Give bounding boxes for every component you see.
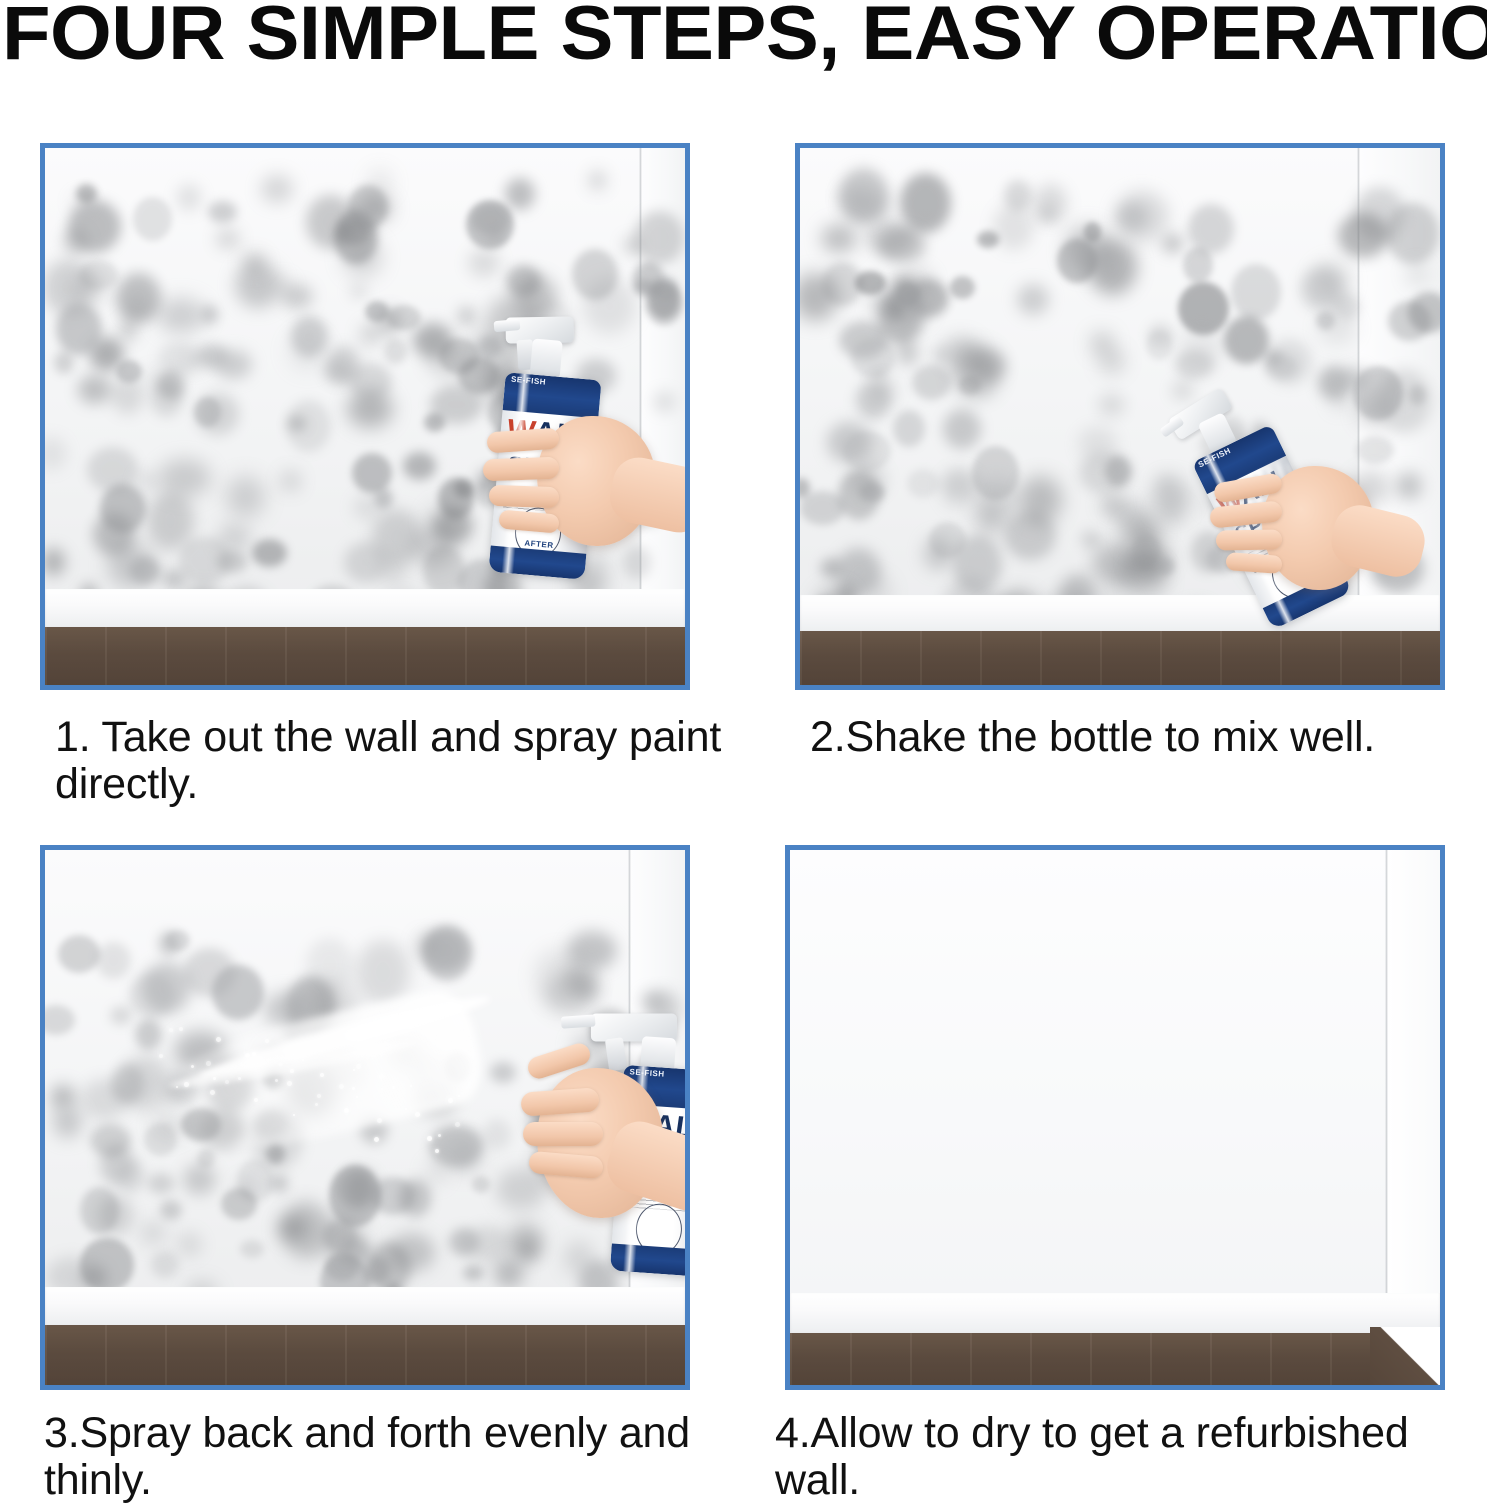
mold-stain: [403, 452, 436, 480]
mist-droplet: [179, 1027, 183, 1031]
mold-stain: [942, 470, 975, 508]
mold-stain: [1078, 427, 1117, 461]
mold-stain: [463, 1265, 484, 1281]
finger-ring: [523, 1122, 603, 1146]
finger-pinky: [1225, 552, 1282, 574]
mold-stain: [147, 492, 194, 550]
mold-stain: [483, 1119, 511, 1150]
mist-droplet: [279, 1063, 282, 1066]
step-2-scene: SE-FISH WALL SPRAY: [800, 148, 1440, 685]
mold-stain: [1377, 369, 1431, 433]
mold-stain: [342, 1237, 371, 1266]
step-1-caption: 1. Take out the wall and spray paint dir…: [55, 714, 735, 808]
mold-stain: [424, 413, 445, 432]
mold-stain: [1093, 334, 1111, 353]
mold-stain: [1039, 206, 1056, 222]
step-3-caption: 3.Spray back and forth evenly and thinly…: [44, 1410, 724, 1504]
mold-stain: [449, 1228, 479, 1256]
wood-floor: [45, 1325, 685, 1385]
finger-ring: [1216, 529, 1282, 550]
mold-stain: [1105, 456, 1131, 486]
mist-droplet: [293, 1114, 295, 1116]
baseboard: [45, 589, 685, 629]
mold-stain: [505, 178, 535, 210]
page-title: FOUR SIMPLE STEPS, EASY OPERATION: [2, 0, 1487, 74]
mold-stain: [142, 962, 191, 1014]
mold-stain: [1179, 326, 1224, 370]
mold-stain: [1332, 293, 1360, 320]
mold-stain: [642, 992, 664, 1009]
mold-stain: [589, 171, 606, 190]
mist-droplet: [290, 1069, 294, 1073]
mold-stain: [151, 1251, 179, 1278]
mold-stain: [100, 484, 146, 533]
finger-middle: [483, 457, 560, 482]
mold-stain: [240, 1240, 264, 1258]
mold-stain: [950, 276, 975, 299]
floor-corner-wedge: [1370, 1327, 1440, 1385]
mold-stain: [872, 378, 897, 402]
mold-stain: [197, 1149, 215, 1168]
mold-stain: [1152, 478, 1190, 515]
mold-stain: [158, 459, 211, 497]
mold-stain: [633, 262, 664, 295]
mold-stain: [912, 365, 951, 400]
mold-stain: [827, 422, 872, 463]
mold-stain: [1330, 394, 1351, 410]
mold-stain: [96, 942, 131, 979]
infographic-page: FOUR SIMPLE STEPS, EASY OPERATION SE-FIS…: [0, 0, 1487, 1500]
mold-stain: [348, 185, 388, 229]
mist-droplet: [216, 1037, 221, 1042]
mold-stain: [933, 347, 949, 364]
mold-stain: [288, 332, 326, 371]
mist-droplet: [238, 1077, 241, 1080]
bottle-nozzle: [561, 1014, 596, 1028]
mold-stain: [623, 546, 651, 579]
mold-stain: [458, 307, 475, 325]
mold-stain: [53, 1106, 82, 1138]
mold-stain: [968, 350, 1006, 381]
mold-stain: [158, 342, 201, 375]
mold-stain: [1081, 531, 1101, 548]
wood-floor: [790, 1333, 1440, 1385]
mold-stain: [58, 935, 100, 973]
mist-droplet: [356, 1096, 358, 1098]
mold-stain: [1338, 213, 1389, 258]
mold-stain: [1017, 284, 1049, 315]
mold-stain: [157, 298, 205, 333]
mold-stain: [216, 229, 240, 249]
bottle-nozzle: [494, 319, 521, 332]
mist-droplet: [415, 1112, 420, 1117]
mold-stain: [252, 539, 287, 567]
mold-stain: [924, 537, 953, 570]
mold-stain: [1183, 247, 1213, 283]
mold-stain: [282, 472, 299, 490]
mold-stain: [158, 931, 180, 956]
mold-stain: [1356, 436, 1394, 464]
mold-stain: [507, 1222, 544, 1258]
mist-droplet: [159, 1054, 163, 1058]
mold-stain: [1224, 316, 1269, 364]
mold-stain: [897, 340, 918, 365]
mold-stain: [282, 1201, 330, 1259]
mold-stain: [399, 1179, 431, 1217]
baseboard: [800, 595, 1440, 633]
mold-stain: [1100, 396, 1123, 414]
mold-stain: [183, 1164, 216, 1195]
mold-stain: [306, 938, 353, 992]
mold-stain: [1388, 301, 1431, 341]
finger-ring: [489, 485, 560, 508]
mist-droplet: [191, 1065, 194, 1068]
mold-stain: [177, 1232, 202, 1257]
mold-stain: [110, 1006, 132, 1025]
mold-stain: [98, 1195, 133, 1235]
step-1-scene: SE-FISH WALL SPRAY AFTER: [45, 148, 685, 685]
mold-stain: [953, 535, 1002, 594]
mold-stain: [261, 175, 293, 203]
step-1-image-panel: SE-FISH WALL SPRAY AFTER: [40, 143, 690, 690]
mist-droplet: [210, 1090, 215, 1095]
mist-droplet: [287, 1081, 292, 1086]
mist-droplet: [458, 1095, 460, 1097]
mold-stain: [120, 320, 137, 340]
step-2-image-panel: SE-FISH WALL SPRAY: [795, 143, 1445, 690]
mold-stain: [1004, 180, 1032, 211]
mold-stain: [413, 323, 453, 358]
mold-stain: [896, 283, 920, 306]
mold-stain: [116, 360, 142, 383]
mold-stain: [494, 1258, 524, 1288]
hand-spraying-bottle: [537, 1068, 663, 1218]
hand-holding-bottle: [537, 416, 655, 546]
mold-stain: [420, 927, 470, 973]
mold-stain: [893, 410, 925, 447]
mold-stain: [544, 973, 596, 1016]
mold-stain: [1231, 264, 1281, 320]
mold-stain: [1019, 476, 1062, 524]
mist-droplet: [285, 1050, 287, 1052]
hand-shaking-bottle: [1262, 466, 1374, 590]
wood-floor: [800, 631, 1440, 685]
mold-stain: [977, 231, 999, 248]
mold-stain: [79, 260, 118, 290]
mold-stain: [221, 1188, 257, 1220]
mold-stain: [1173, 383, 1192, 398]
mold-stain: [878, 227, 926, 263]
mist-droplet: [339, 1084, 344, 1089]
mold-stain: [1396, 472, 1422, 500]
mold-stain: [356, 940, 410, 1004]
mold-stain: [572, 249, 618, 300]
mold-stain: [350, 285, 367, 298]
baseboard: [45, 1287, 685, 1327]
mist-droplet: [184, 1082, 189, 1087]
mold-stain: [487, 226, 505, 246]
mold-stain: [839, 168, 888, 223]
mold-stain: [62, 228, 89, 255]
mold-stain: [157, 370, 185, 400]
mist-droplet: [302, 1059, 304, 1061]
mold-stain: [1343, 368, 1367, 388]
mist-droplet: [381, 1088, 383, 1090]
mold-stain: [200, 305, 219, 324]
mold-stain: [208, 201, 237, 223]
baseboard: [790, 1293, 1440, 1335]
mold-stain: [1084, 222, 1101, 242]
mold-stain: [820, 558, 843, 578]
mold-stain: [135, 1019, 162, 1050]
mold-stain: [148, 1173, 174, 1194]
mold-stain: [424, 1159, 448, 1186]
mold-stain: [1163, 235, 1182, 252]
step-3-image-panel: SE-FISH WALL SPRAY: [40, 845, 690, 1390]
mist-droplet: [427, 1136, 432, 1141]
mold-stain: [329, 1165, 381, 1227]
mold-stain: [56, 303, 102, 355]
mold-stain: [653, 391, 676, 413]
mold-stain: [943, 409, 981, 449]
step-3-scene: SE-FISH WALL SPRAY: [45, 850, 685, 1385]
mold-stain: [993, 204, 1034, 250]
mold-stain: [468, 249, 500, 277]
mold-stain: [1406, 263, 1428, 285]
mold-stain: [1265, 354, 1298, 379]
mold-stain: [116, 273, 161, 323]
mold-stain: [1146, 330, 1173, 360]
mold-stain: [634, 211, 684, 265]
mold-stain: [352, 453, 392, 493]
wood-floor: [45, 627, 685, 685]
mold-stain: [438, 478, 474, 519]
mist-droplet: [169, 1028, 173, 1032]
mold-stain: [343, 237, 382, 277]
mold-stain: [360, 323, 380, 346]
step-4-image-panel: [785, 845, 1445, 1390]
mold-stain: [245, 255, 263, 270]
mold-stain: [160, 1200, 182, 1220]
mold-stain: [907, 469, 939, 498]
step-4-scene: [790, 850, 1440, 1385]
mold-stain: [1115, 191, 1168, 242]
mold-stain: [133, 197, 172, 241]
mold-stain: [286, 400, 331, 452]
mold-stain: [387, 305, 421, 330]
mold-stain: [226, 476, 265, 518]
mold-stain: [849, 463, 887, 497]
step-4-caption: 4.Allow to dry to get a refurbished wall…: [775, 1410, 1475, 1504]
mold-stain: [490, 1062, 516, 1083]
mist-droplet: [265, 1039, 269, 1043]
mist-droplet: [438, 1134, 441, 1137]
mold-stain: [54, 351, 74, 374]
mold-stain: [177, 184, 201, 211]
mold-stain: [212, 965, 264, 1020]
mold-stain: [194, 397, 221, 427]
mold-stain: [217, 551, 247, 573]
mist-droplet: [320, 1073, 324, 1077]
mold-stain: [78, 375, 111, 404]
mold-stain: [90, 1124, 131, 1157]
step-2-caption: 2.Shake the bottle to mix well.: [810, 714, 1487, 761]
bottle-neck: [530, 338, 563, 378]
mold-stain: [975, 478, 1018, 519]
mist-droplet: [206, 1061, 211, 1066]
mold-stain: [900, 173, 951, 233]
mold-stain: [1100, 497, 1122, 514]
mold-stain: [344, 542, 388, 583]
mold-stain: [142, 1223, 164, 1243]
mold-stain: [134, 470, 159, 492]
mold-stain: [76, 184, 97, 203]
mold-stain: [384, 339, 407, 364]
mold-stain: [448, 1140, 481, 1173]
mold-stain: [472, 1176, 490, 1193]
mold-stain: [118, 1160, 145, 1192]
mold-stain: [51, 1085, 75, 1109]
mold-stain: [821, 224, 857, 253]
mold-stain: [327, 346, 360, 384]
